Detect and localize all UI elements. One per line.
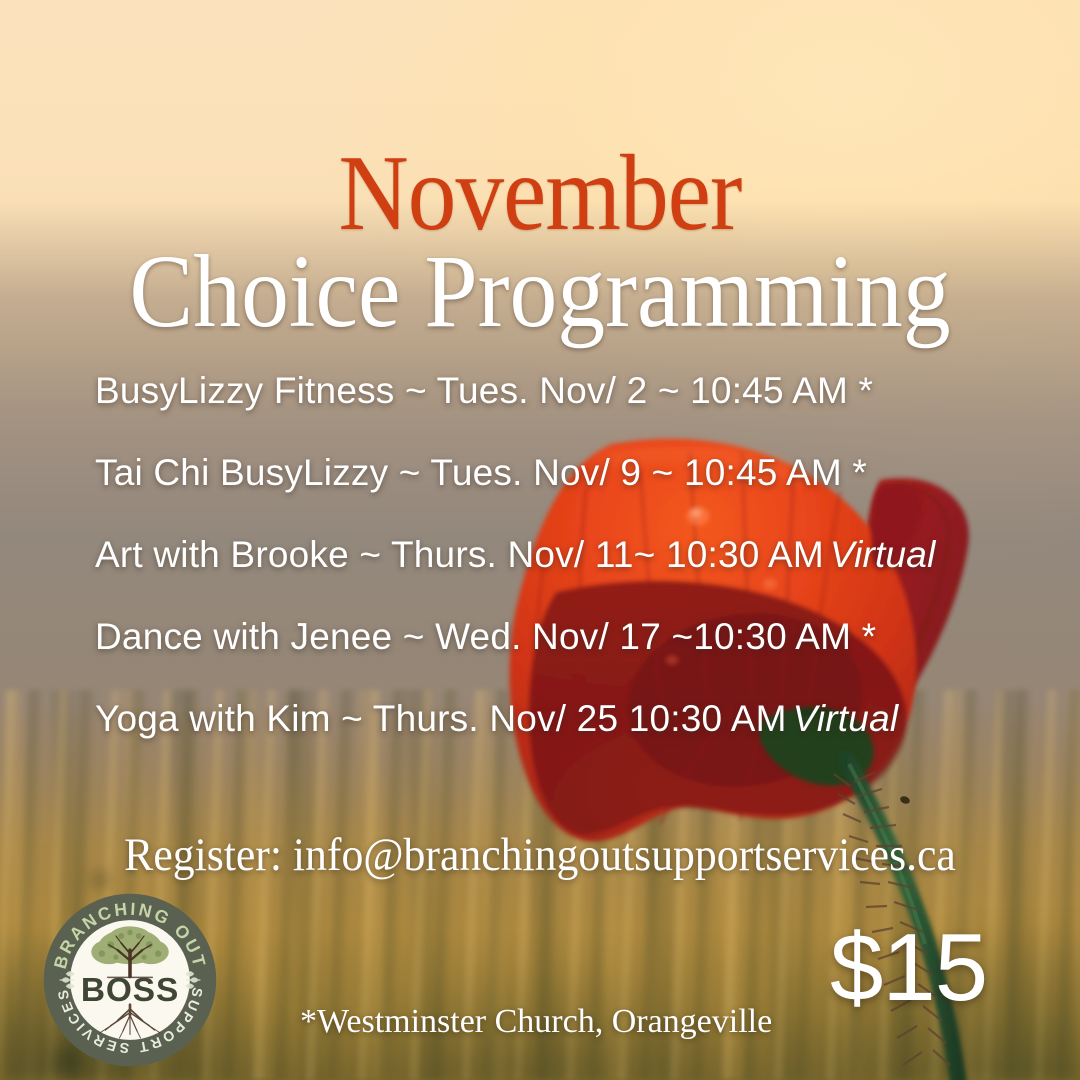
title-month: November bbox=[54, 140, 1026, 248]
schedule-item-text: Tai Chi BusyLizzy ~ Tues. Nov/ 9 ~ 10:45… bbox=[95, 452, 867, 493]
schedule-item: BusyLizzy Fitness ~ Tues. Nov/ 2 ~ 10:45… bbox=[95, 372, 1045, 454]
boss-logo: BOSS BRANCHING OUT SUPPORT SERVICES bbox=[42, 892, 218, 1068]
schedule-item-text: Art with Brooke ~ Thurs. Nov/ 11~ 10:30 … bbox=[95, 534, 824, 575]
schedule-item-virtual-tag: Virtual bbox=[787, 698, 899, 739]
schedule-item-text: Dance with Jenee ~ Wed. Nov/ 17 ~10:30 A… bbox=[95, 616, 876, 657]
schedule-item: Yoga with Kim ~ Thurs. Nov/ 25 10:30 AMV… bbox=[95, 700, 1045, 782]
schedule-item-virtual-tag bbox=[873, 370, 879, 411]
schedule-item-virtual-tag bbox=[867, 452, 873, 493]
schedule-item-virtual-tag: Virtual bbox=[824, 534, 936, 575]
page-title: November Choice Programming bbox=[0, 140, 1080, 344]
schedule-item-text: Yoga with Kim ~ Thurs. Nov/ 25 10:30 AM bbox=[95, 698, 787, 739]
title-main: Choice Programming bbox=[43, 240, 1037, 344]
schedule-item-virtual-tag bbox=[876, 616, 882, 657]
schedule-item: Tai Chi BusyLizzy ~ Tues. Nov/ 9 ~ 10:45… bbox=[95, 454, 1045, 536]
venue-footnote: *Westminster Church, Orangeville bbox=[300, 1003, 772, 1041]
price-label: $15 bbox=[830, 920, 987, 1016]
schedule-list: BusyLizzy Fitness ~ Tues. Nov/ 2 ~ 10:45… bbox=[95, 372, 1045, 782]
schedule-item-text: BusyLizzy Fitness ~ Tues. Nov/ 2 ~ 10:45… bbox=[95, 370, 873, 411]
register-email-line[interactable]: Register: info@branchingoutsupportservic… bbox=[38, 828, 1042, 882]
schedule-item: Dance with Jenee ~ Wed. Nov/ 17 ~10:30 A… bbox=[95, 618, 1045, 700]
poster-canvas: November Choice Programming BusyLizzy Fi… bbox=[0, 0, 1080, 1080]
schedule-item: Art with Brooke ~ Thurs. Nov/ 11~ 10:30 … bbox=[95, 536, 1045, 618]
